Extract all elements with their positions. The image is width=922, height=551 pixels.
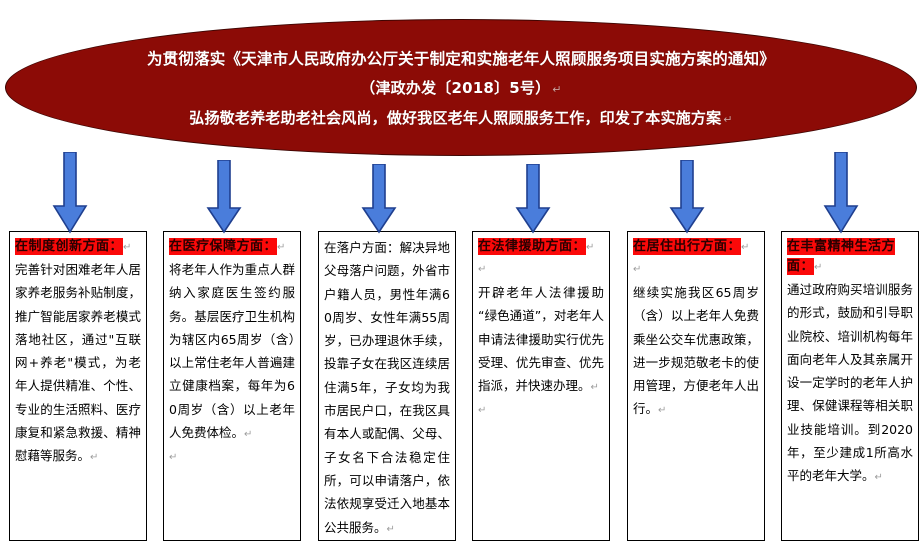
card-heading-text: 在居住出行方面：	[633, 238, 741, 255]
paragraph-mark-icon: ↵	[814, 262, 822, 273]
card-heading: 在法律援助方面：↵	[478, 236, 604, 257]
card-heading-text: 在法律援助方面：	[478, 238, 586, 255]
paragraph-mark-icon: ↵	[123, 242, 131, 253]
banner-line-2: （津政办发〔2018〕5号）↵	[360, 74, 561, 104]
banner-line-3: 弘扬敬老养老助老社会风尚，做好我区老年人照顾服务工作，印发了本实施方案↵	[189, 104, 732, 134]
card-heading-tail: 解决	[400, 240, 425, 255]
paragraph-mark-icon: ↵	[478, 258, 604, 281]
paragraph-mark-icon: ↵	[387, 524, 395, 535]
card-body: 将老年人作为重点人群纳入家庭医生签约服务。基层医疗卫生机构为辖区内65周岁（含）…	[169, 258, 295, 446]
down-arrow-5	[669, 160, 705, 236]
card-heading: 在制度创新方面：↵	[15, 236, 141, 257]
card-body: 通过政府购买培训服务的形式，鼓励和引导职业院校、培训机构每年面向老年人及其亲属开…	[787, 278, 913, 490]
card-heading-text: 在落户方面：	[324, 240, 400, 255]
card-legal-aid[interactable]: 在法律援助方面：↵ ↵ 开辟老年人法律援助“绿色通道”，对老年人申请法律援助实行…	[472, 231, 610, 541]
paragraph-mark-icon: ↵	[633, 258, 759, 281]
card-body: 完善针对困难老年人居家养老服务补贴制度，推广智能居家养老模式落地社区，通过"互联…	[15, 258, 141, 470]
card-household-registration[interactable]: 在落户方面：解决异地父母落户问题，外省市户籍人员，男性年满60周岁、女性年满55…	[318, 231, 456, 541]
card-heading: 在丰富精神生活方面：↵	[787, 236, 913, 277]
card-heading-text: 在丰富精神生活方面：	[787, 238, 895, 275]
card-medical-security[interactable]: 在医疗保障方面：↵ 将老年人作为重点人群纳入家庭医生签约服务。基层医疗卫生机构为…	[163, 231, 301, 541]
paragraph-mark-icon: ↵	[741, 242, 749, 253]
paragraph-mark-icon: ↵	[586, 242, 594, 253]
card-body: 在落户方面：解决异地父母落户问题，外省市户籍人员，男性年满60周岁、女性年满55…	[324, 236, 450, 541]
card-body: 继续实施我区65周岁（含）以上老年人免费乘坐公交车优惠政策，进一步规范敬老卡的使…	[633, 281, 759, 423]
down-arrow-1	[52, 152, 88, 236]
measure-cards-row: 在制度创新方面：↵ 完善针对困难老年人居家养老服务补贴制度，推广智能居家养老模式…	[0, 231, 922, 544]
card-body: 开辟老年人法律援助“绿色通道”，对老年人申请法律援助实行优先受理、优先审查、优先…	[478, 281, 604, 399]
banner-line-1: 为贯彻落实《天津市人民政府办公厅关于制定和实施老年人照顾服务项目实施方案的通知》	[147, 45, 775, 74]
policy-banner: 为贯彻落实《天津市人民政府办公厅关于制定和实施老年人照顾服务项目实施方案的通知》…	[5, 19, 917, 156]
paragraph-mark-icon: ↵	[550, 83, 561, 96]
paragraph-mark-icon: ↵	[478, 399, 604, 422]
paragraph-mark-icon: ↵	[90, 452, 98, 463]
down-arrow-4	[515, 164, 551, 236]
card-heading-text: 在医疗保障方面：	[169, 238, 277, 255]
card-heading: 在医疗保障方面：↵	[169, 236, 295, 257]
paragraph-mark-icon: ↵	[875, 472, 883, 483]
infographic-canvas: 为贯彻落实《天津市人民政府办公厅关于制定和实施老年人照顾服务项目实施方案的通知》…	[0, 0, 922, 551]
paragraph-mark-icon: ↵	[658, 405, 666, 416]
paragraph-mark-icon: ↵	[721, 113, 732, 126]
card-heading: 在居住出行方面：↵	[633, 236, 759, 257]
card-heading-text: 在制度创新方面：	[15, 238, 123, 255]
card-spiritual-life[interactable]: 在丰富精神生活方面：↵ 通过政府购买培训服务的形式，鼓励和引导职业院校、培训机构…	[781, 231, 919, 541]
card-system-innovation[interactable]: 在制度创新方面：↵ 完善针对困难老年人居家养老服务补贴制度，推广智能居家养老模式…	[9, 231, 147, 541]
down-arrow-2	[206, 160, 242, 236]
card-residence-travel[interactable]: 在居住出行方面：↵ ↵ 继续实施我区65周岁（含）以上老年人免费乘坐公交车优惠政…	[627, 231, 765, 541]
paragraph-mark-icon: ↵	[277, 242, 285, 253]
paragraph-mark-icon: ↵	[244, 429, 252, 440]
down-arrow-3	[361, 164, 397, 236]
banner-text-block: 为贯彻落实《天津市人民政府办公厅关于制定和实施老年人照顾服务项目实施方案的通知》…	[6, 20, 916, 155]
paragraph-mark-icon: ↵	[591, 382, 599, 393]
paragraph-mark-icon: ↵	[169, 446, 295, 469]
down-arrow-6	[823, 152, 859, 236]
